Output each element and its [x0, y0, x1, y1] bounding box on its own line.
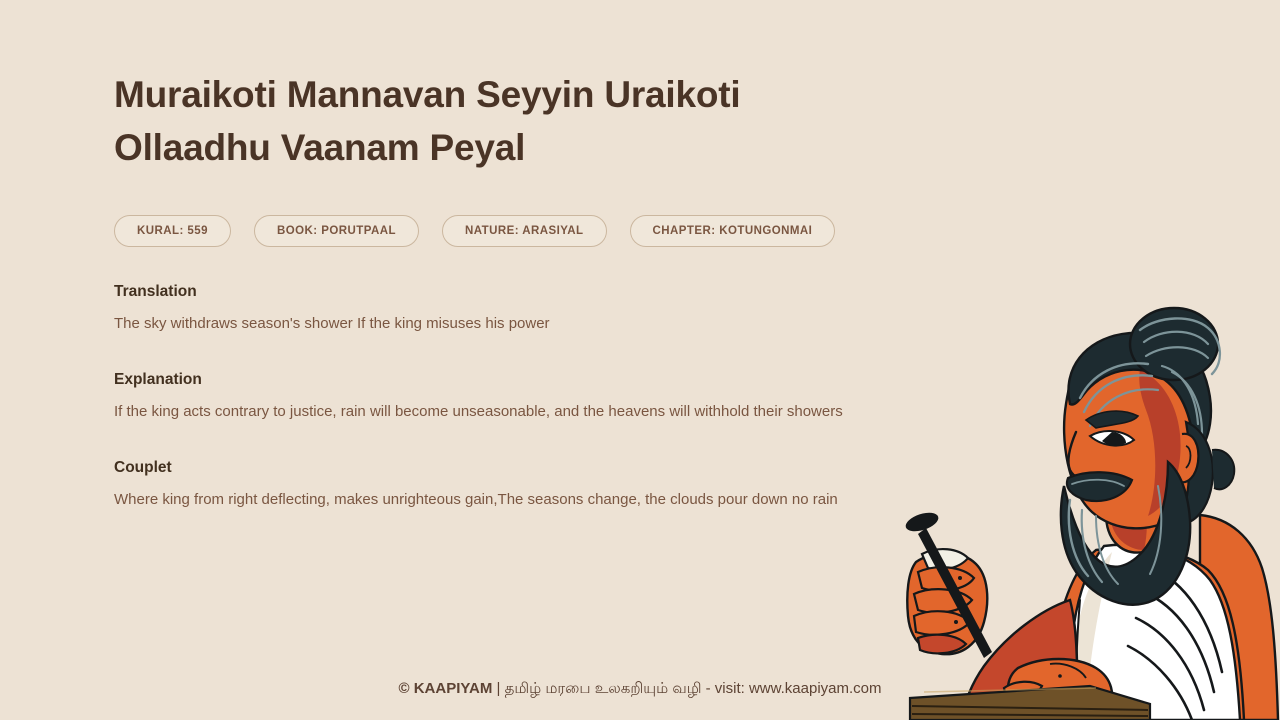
section-explanation-heading: Explanation [114, 370, 904, 390]
section-explanation-body: If the king acts contrary to justice, ra… [114, 401, 859, 424]
section-translation-heading: Translation [114, 282, 904, 302]
page-title: Muraikoti Mannavan Seyyin Uraikoti Ollaa… [114, 68, 754, 174]
kural-title-line-1: Muraikoti Mannavan Seyyin Uraikoti [114, 74, 740, 115]
section-couplet-body: Where king from right deflecting, makes … [114, 489, 859, 512]
section-couplet-heading: Couplet [114, 458, 904, 478]
footer-tagline: தமிழ் மரபை உலகறியும் வழி - visit: www.ka… [505, 680, 882, 697]
footer-separator: | [492, 680, 504, 697]
thiruvalluvar-writing-illustration [900, 300, 1280, 720]
stylus [903, 509, 992, 658]
kural-content: Muraikoti Mannavan Seyyin Uraikoti Ollaa… [114, 68, 904, 512]
section-translation: Translation The sky withdraws season's s… [114, 282, 904, 336]
footer: © KAAPIYAM | தமிழ் மரபை உலகறியும் வழி - … [0, 679, 1280, 699]
badge-chapter[interactable]: CHAPTER: KOTUNGONMAI [630, 215, 836, 247]
badge-nature[interactable]: NATURE: ARASIYAL [442, 215, 607, 247]
section-couplet: Couplet Where king from right deflecting… [114, 458, 904, 512]
badge-kural-number[interactable]: KURAL: 559 [114, 215, 231, 247]
section-explanation: Explanation If the king acts contrary to… [114, 370, 904, 424]
kural-card-page: Muraikoti Mannavan Seyyin Uraikoti Ollaa… [0, 0, 1280, 720]
section-translation-body: The sky withdraws season's shower If the… [114, 313, 859, 336]
badge-book[interactable]: BOOK: PORUTPAAL [254, 215, 419, 247]
kural-badges: KURAL: 559 BOOK: PORUTPAAL NATURE: ARASI… [114, 215, 904, 247]
kural-title-line-2: Ollaadhu Vaanam Peyal [114, 127, 525, 168]
footer-brand: © KAAPIYAM [398, 680, 492, 697]
